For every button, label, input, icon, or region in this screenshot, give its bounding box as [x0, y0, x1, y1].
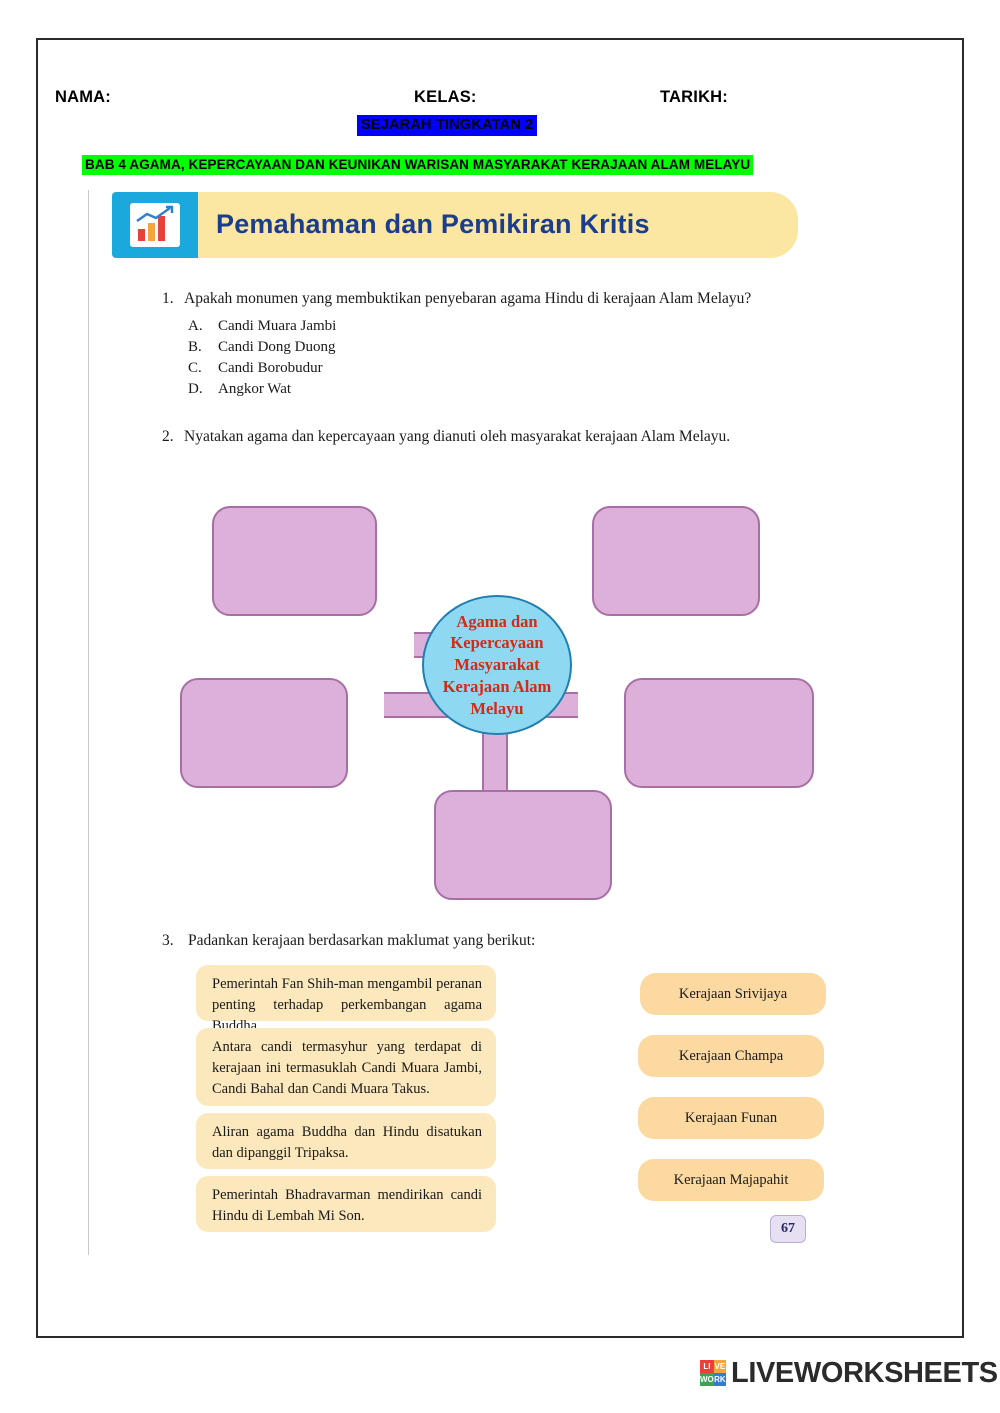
match-statement-2[interactable]: Antara candi termasyhur yang terdapat di… [196, 1028, 496, 1106]
center-line-2: Kepercayaan [450, 633, 543, 652]
mindmap-answer-box-3[interactable] [180, 678, 348, 788]
center-line-1: Agama dan [456, 612, 537, 631]
logo-cell-ve: VE [714, 1360, 726, 1373]
logo-cell-li: LI [700, 1360, 714, 1373]
match-kingdom-3-text: Kerajaan Funan [685, 1110, 777, 1127]
page-number-text: 67 [781, 1221, 795, 1237]
q1-option-d-text[interactable]: Angkor Wat [218, 381, 291, 398]
match-statement-1[interactable]: Pemerintah Fan Shih-man mengambil perana… [196, 965, 496, 1021]
worksheet-content: Pemahaman dan Pemikiran Kritis 1. Apakah… [84, 180, 844, 1260]
q1-option-b-letter: B. [188, 339, 202, 356]
logo-cell-rk: RK [714, 1373, 726, 1386]
match-statement-4-text: Pemerintah Bhadravarman mendirikan candi… [212, 1185, 482, 1227]
match-kingdom-2[interactable]: Kerajaan Champa [638, 1035, 824, 1077]
kelas-label: KELAS: [414, 88, 477, 107]
nama-label: NAMA: [55, 88, 111, 107]
liveworksheets-brand: LI VE WO RK LIVEWORKSHEETS [700, 1353, 998, 1393]
q1-option-d-letter: D. [188, 381, 203, 398]
mindmap-center-node: Agama dan Kepercayaan Masyarakat Kerajaa… [422, 595, 572, 735]
subject-title: SEJARAH TINGKATAN 2 [357, 115, 537, 136]
match-kingdom-4-text: Kerajaan Majapahit [674, 1172, 789, 1189]
match-kingdom-1[interactable]: Kerajaan Srivijaya [640, 973, 826, 1015]
match-statement-2-text: Antara candi termasyhur yang terdapat di… [212, 1037, 482, 1100]
match-kingdom-3[interactable]: Kerajaan Funan [638, 1097, 824, 1139]
center-line-3: Masyarakat [454, 655, 539, 674]
mindmap-center-label: Agama dan Kepercayaan Masyarakat Kerajaa… [443, 611, 552, 720]
mindmap-answer-box-5[interactable] [434, 790, 612, 900]
logo-cell-wo: WO [700, 1373, 714, 1386]
q1-option-a-letter: A. [188, 318, 203, 335]
match-statement-3-text: Aliran agama Buddha dan Hindu disatukan … [212, 1122, 482, 1164]
question-3-number: 3. [162, 932, 174, 950]
center-line-5: Melayu [470, 699, 523, 718]
chapter-title: BAB 4 AGAMA, KEPERCAYAAN DAN KEUNIKAN WA… [82, 155, 753, 175]
section-banner: Pemahaman dan Pemikiran Kritis [112, 192, 798, 258]
student-info-row: NAMA: KELAS: TARIKH: [0, 88, 1000, 112]
question-3-text: Padankan kerajaan berdasarkan maklumat y… [188, 932, 535, 950]
center-line-4: Kerajaan Alam [443, 677, 552, 696]
mindmap-answer-box-4[interactable] [624, 678, 814, 788]
match-kingdom-2-text: Kerajaan Champa [679, 1048, 783, 1065]
liveworksheets-logo-icon: LI VE WO RK [700, 1360, 726, 1386]
match-statement-4[interactable]: Pemerintah Bhadravarman mendirikan candi… [196, 1176, 496, 1232]
tarikh-label: TARIKH: [660, 88, 728, 107]
match-statement-3[interactable]: Aliran agama Buddha dan Hindu disatukan … [196, 1113, 496, 1169]
scan-margin-rule [88, 190, 89, 1255]
page-number-badge: 67 [770, 1215, 806, 1243]
brand-name: LIVEWORKSHEETS [731, 1357, 998, 1390]
question-2-text: Nyatakan agama dan kepercayaan yang dian… [184, 428, 730, 446]
mindmap-answer-box-1[interactable] [212, 506, 377, 616]
banner-title: Pemahaman dan Pemikiran Kritis [216, 209, 650, 240]
mindmap-connector-bottom [482, 728, 508, 798]
question-1-text: Apakah monumen yang membuktikan penyebar… [184, 290, 751, 308]
q1-option-c-text[interactable]: Candi Borobudur [218, 360, 323, 377]
q1-option-a-text[interactable]: Candi Muara Jambi [218, 318, 336, 335]
question-1-number: 1. [162, 290, 174, 308]
mindmap-answer-box-2[interactable] [592, 506, 760, 616]
match-kingdom-1-text: Kerajaan Srivijaya [679, 986, 787, 1003]
q1-option-b-text[interactable]: Candi Dong Duong [218, 339, 336, 356]
bar-chart-icon [130, 203, 180, 247]
match-kingdom-4[interactable]: Kerajaan Majapahit [638, 1159, 824, 1201]
q1-option-c-letter: C. [188, 360, 202, 377]
question-2-number: 2. [162, 428, 174, 446]
